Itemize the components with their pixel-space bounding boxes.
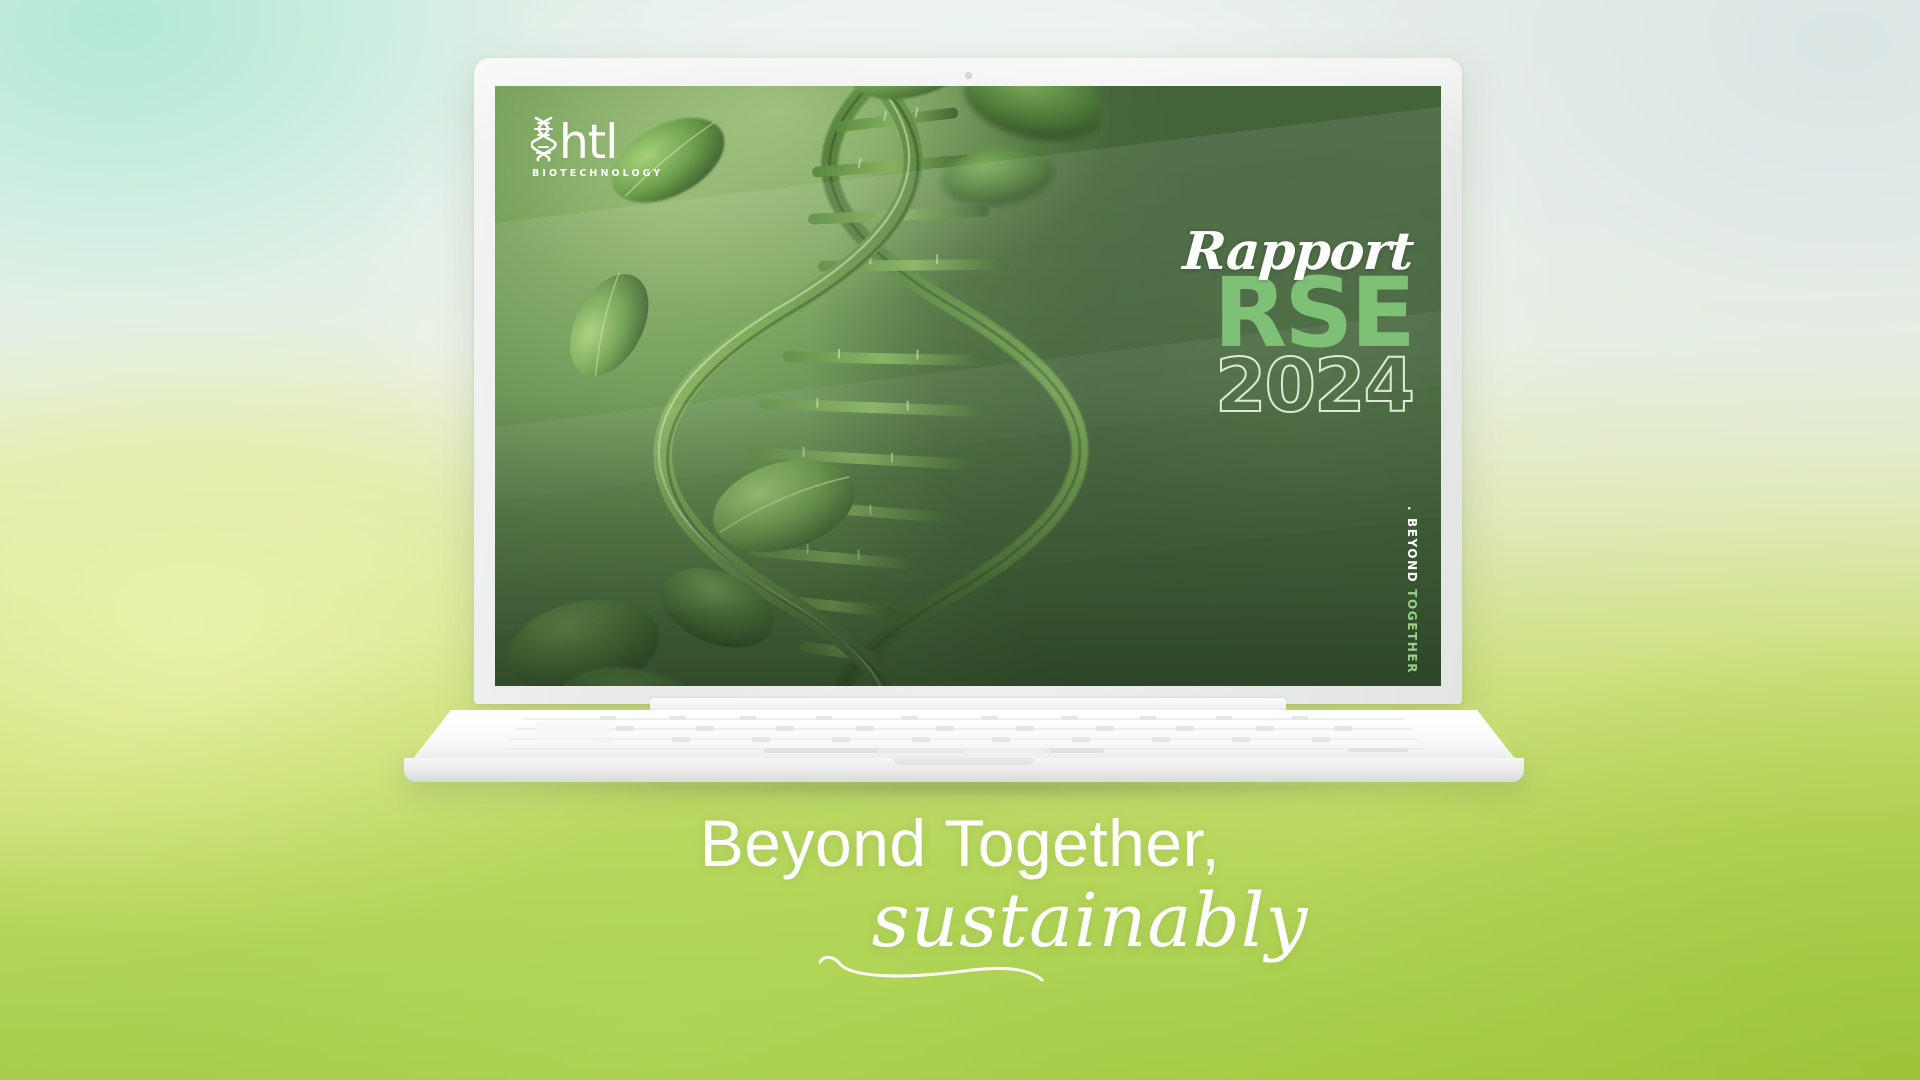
cover-title-acronym: RSE (1173, 272, 1413, 355)
swoosh-underline-icon (814, 952, 1054, 986)
vertical-tagline-beyond: BEYOND (1405, 518, 1419, 583)
tagline-block: Beyond Together, sustainably (0, 810, 1920, 976)
laptop-screen[interactable]: htl BIOTECHNOLOGY Rapport RSE 2024 . BEY… (495, 86, 1441, 686)
laptop-lid: htl BIOTECHNOLOGY Rapport RSE 2024 . BEY… (474, 58, 1462, 704)
page-root: htl BIOTECHNOLOGY Rapport RSE 2024 . BEY… (0, 0, 1920, 1080)
laptop-base-notch (894, 758, 1034, 765)
htl-logo: htl BIOTECHNOLOGY (531, 116, 681, 179)
cover-title-block: Rapport RSE 2024 (1173, 228, 1413, 420)
cover-title-year: 2024 (1173, 352, 1413, 420)
logo-wordmark: htl (559, 125, 617, 162)
tagline-secondary: sustainably (872, 884, 1309, 958)
laptop-trackpad[interactable] (878, 748, 1050, 755)
laptop-mockup: htl BIOTECHNOLOGY Rapport RSE 2024 . BEY… (404, 58, 1524, 778)
logo-subtitle: BIOTECHNOLOGY (532, 168, 681, 179)
tagline-primary: Beyond Together, (0, 810, 1920, 876)
cover-vertical-tagline: . BEYOND TOGETHER (1405, 506, 1419, 674)
vertical-tagline-together: TOGETHER (1405, 589, 1419, 674)
webcam-icon (965, 72, 972, 79)
laptop-hinge (650, 698, 1286, 712)
tagline-secondary-wrap: sustainably (0, 872, 1920, 976)
cover-title-script: Rapport (1171, 228, 1414, 276)
dna-helix-icon (531, 116, 557, 162)
